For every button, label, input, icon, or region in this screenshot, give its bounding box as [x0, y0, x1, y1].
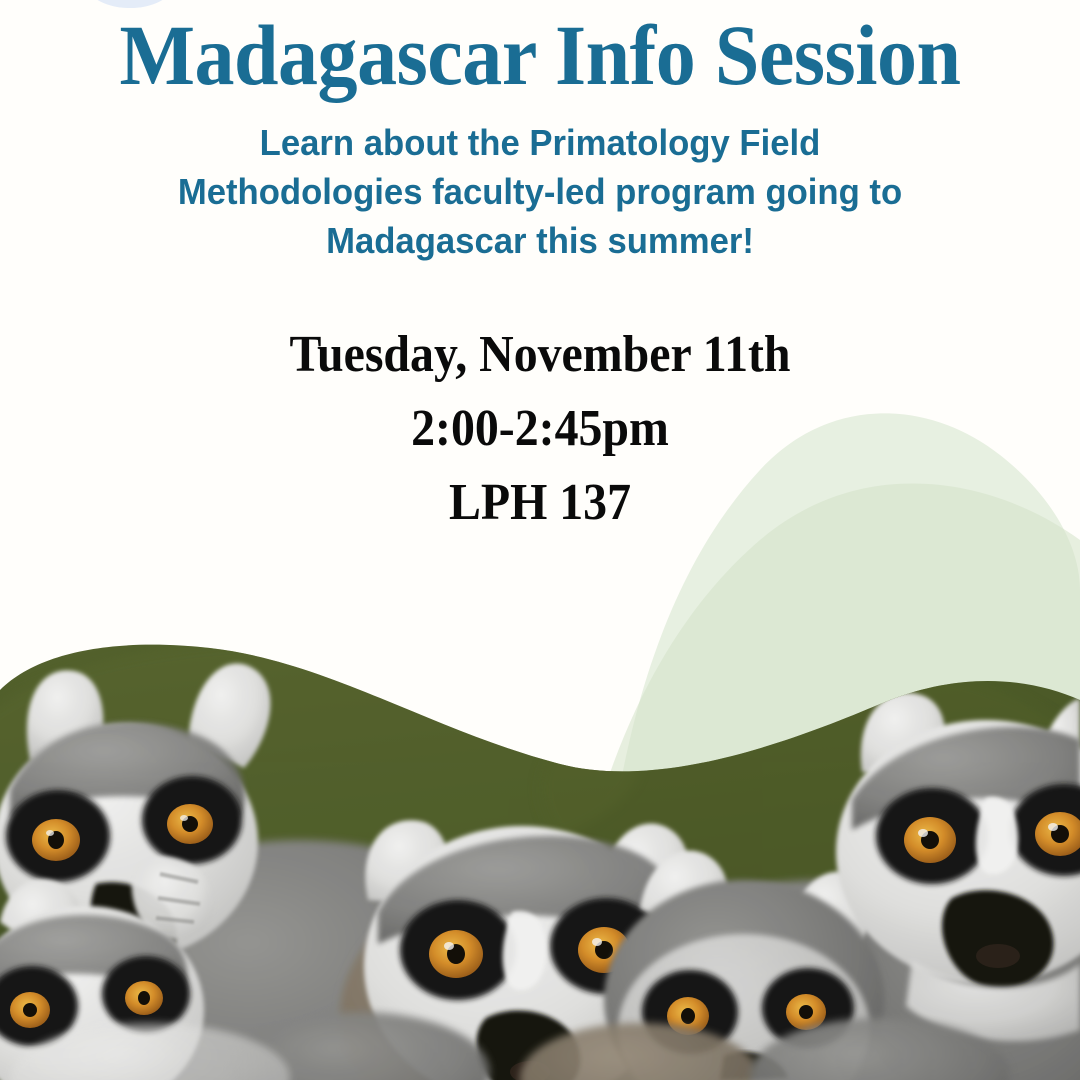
subtitle-block: Learn about the Primatology Field Method… [113, 118, 968, 265]
event-time: 2:00-2:45pm [126, 392, 954, 466]
subtitle-line-3: Madagascar this summer! [113, 216, 968, 265]
page-title: Madagascar Info Session [38, 12, 1042, 98]
subtitle-line-1: Learn about the Primatology Field [113, 118, 968, 167]
subtitle-line-2: Methodologies faculty-led program going … [113, 167, 968, 216]
event-location: LPH 137 [126, 466, 954, 540]
event-date: Tuesday, November 11th [126, 318, 954, 392]
event-details-block: Tuesday, November 11th 2:00-2:45pm LPH 1… [126, 318, 954, 540]
poster-canvas: Madagascar Info Session Learn about the … [0, 0, 1080, 1080]
